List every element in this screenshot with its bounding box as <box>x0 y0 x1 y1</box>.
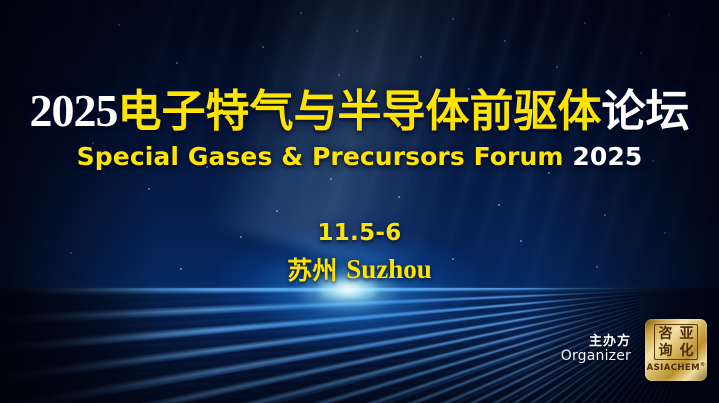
subtitle-main: Special Gases & Precursors Forum <box>77 142 564 171</box>
title-highlight: 电子特气与半导体前驱体 <box>118 86 602 137</box>
event-location: 苏州Suzhou <box>0 251 719 287</box>
organizer-labels: 主办方 Organizer <box>561 335 631 365</box>
logo-seal-char-2: 亚 <box>676 325 697 342</box>
logo-wordmark: ASIACHEM® <box>647 362 706 373</box>
page-subtitle: Special Gases & Precursors Forum 2025 <box>0 142 719 171</box>
logo-seal: 咨 亚 询 化 <box>654 324 698 360</box>
organizer-block: 主办方 Organizer 咨 亚 询 化 ASIACHEM® <box>561 319 707 381</box>
logo-trademark: ® <box>700 362 705 368</box>
logo-seal-char-3: 询 <box>655 342 676 359</box>
page-title: 2025电子特气与半导体前驱体论坛 <box>0 88 719 134</box>
title-suffix: 论坛 <box>602 86 690 137</box>
title-year: 2025 <box>30 85 118 136</box>
logo-wordmark-text: ASIACHEM <box>647 363 700 373</box>
event-location-en: Suzhou <box>346 254 432 284</box>
event-location-cn: 苏州 <box>287 256 337 285</box>
poster-content: 2025电子特气与半导体前驱体论坛 Special Gases & Precur… <box>0 0 719 403</box>
logo-seal-char-4: 化 <box>676 342 697 359</box>
event-poster: 2025电子特气与半导体前驱体论坛 Special Gases & Precur… <box>0 0 719 403</box>
subtitle-year: 2025 <box>572 142 642 171</box>
organizer-label-en: Organizer <box>561 349 631 365</box>
event-date: 11.5-6 <box>0 220 719 246</box>
asiachem-logo: 咨 亚 询 化 ASIACHEM® <box>645 319 707 381</box>
logo-seal-char-1: 咨 <box>655 325 676 342</box>
